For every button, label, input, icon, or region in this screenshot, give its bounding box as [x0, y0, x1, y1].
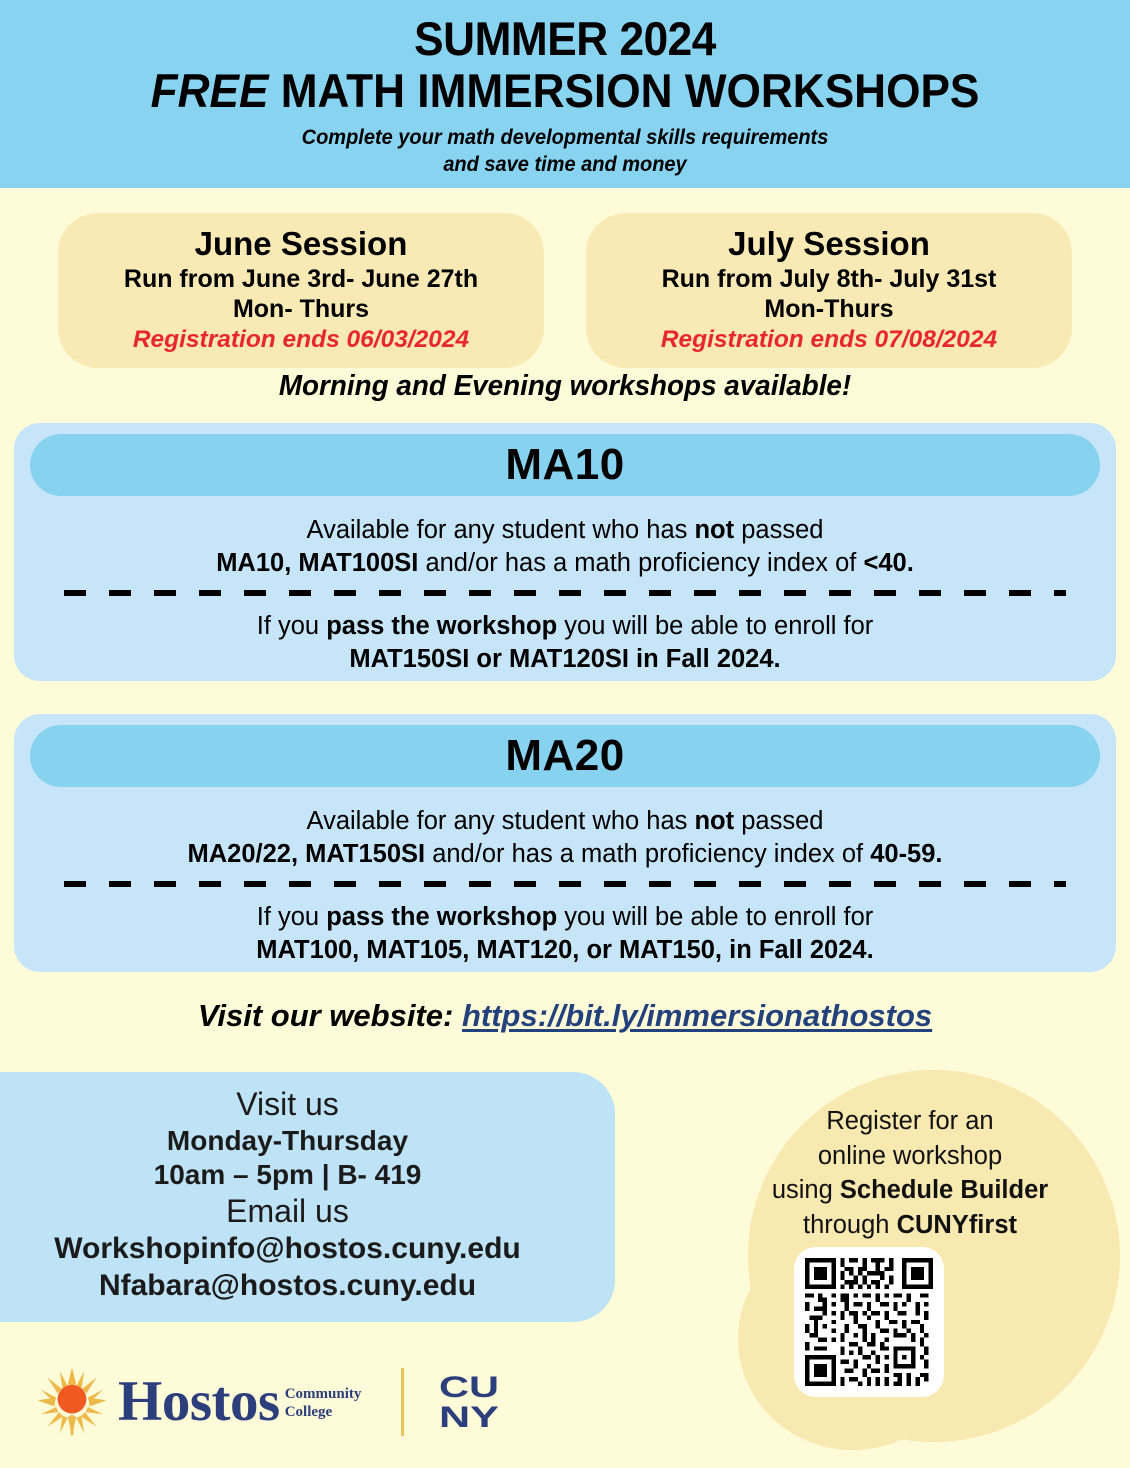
- register-line-4-text: through: [803, 1211, 897, 1239]
- eligibility-text-a: Available for any student who has: [307, 516, 695, 544]
- session-registration-deadline: Registration ends 06/03/2024: [68, 325, 534, 355]
- session-card-july: July Session Run from July 8th- July 31s…: [586, 213, 1072, 368]
- course-body-ma20: Available for any student who has not pa…: [14, 805, 1116, 968]
- outcome-emphasis: pass the workshop: [326, 612, 557, 640]
- outcome-text-a: If you: [257, 612, 326, 640]
- eligibility-line-1: Available for any student who has not pa…: [38, 805, 1092, 838]
- website-link[interactable]: https://bit.ly/immersionathostos: [462, 998, 932, 1033]
- course-header-ma10: MA10: [30, 434, 1100, 496]
- availability-note: Morning and Evening workshops available!: [23, 370, 1108, 403]
- outcome-line-1: If you pass the workshop you will be abl…: [38, 901, 1092, 934]
- website-line: Visit our website: https://bit.ly/immers…: [0, 998, 1130, 1034]
- website-label: Visit our website:: [198, 998, 462, 1033]
- eligibility-courses: MA10, MAT100SI: [216, 549, 418, 577]
- visit-us-box: Visit us Monday-Thursday 10am – 5pm | B-…: [0, 1072, 615, 1322]
- session-title: July Session: [596, 224, 1062, 264]
- eligibility-courses: MA20/22, MAT150SI: [187, 840, 425, 868]
- eligibility-line-2: MA10, MAT100SI and/or has a math profici…: [38, 547, 1092, 580]
- outcome-text-c: you will be able to enroll for: [557, 903, 873, 931]
- dashed-divider: [64, 590, 1066, 596]
- outcome-text-a: If you: [257, 903, 326, 931]
- eligibility-text-c: passed: [734, 807, 823, 835]
- course-header-ma20: MA20: [30, 725, 1100, 787]
- visit-us-heading: Visit us: [0, 1086, 575, 1124]
- eligibility-index-value: 40-59.: [870, 840, 942, 868]
- hostos-name: Hostos: [118, 1375, 280, 1429]
- hostos-subtitle: Community College: [285, 1385, 362, 1423]
- session-days: Mon- Thurs: [68, 294, 534, 324]
- session-days: Mon-Thurs: [596, 294, 1062, 324]
- register-line-3-text: using: [772, 1176, 840, 1204]
- course-code: MA20: [505, 731, 624, 781]
- qr-code-icon: [805, 1258, 933, 1386]
- outcome-line-1: If you pass the workshop you will be abl…: [38, 610, 1092, 643]
- visit-us-days: Monday-Thursday: [0, 1124, 575, 1159]
- footer-logo-row: Hostos Community College CU NY: [36, 1363, 502, 1441]
- email-address-workshopinfo[interactable]: Workshopinfo@hostos.cuny.edu: [0, 1231, 575, 1268]
- eligibility-line-2: MA20/22, MAT150SI and/or has a math prof…: [38, 838, 1092, 871]
- session-title: June Session: [68, 224, 534, 264]
- svg-text:CU: CU: [439, 1371, 499, 1404]
- register-line-1: Register for an: [745, 1104, 1075, 1139]
- eligibility-emphasis: not: [694, 807, 734, 835]
- course-code: MA10: [505, 440, 624, 490]
- outcome-text-c: you will be able to enroll for: [557, 612, 873, 640]
- course-body-ma10: Available for any student who has not pa…: [14, 514, 1116, 677]
- logo-divider: [401, 1368, 404, 1436]
- email-us-heading: Email us: [0, 1193, 575, 1231]
- register-instructions: Register for an online workshop using Sc…: [745, 1104, 1075, 1243]
- outcome-courses: MAT100, MAT105, MAT120, or MAT150, in Fa…: [256, 936, 873, 964]
- outcome-line-2: MAT150SI or MAT120SI in Fall 2024.: [38, 643, 1092, 676]
- cuny-logo-icon: CU NY: [438, 1371, 502, 1433]
- session-card-june: June Session Run from June 3rd- June 27t…: [58, 213, 544, 368]
- svg-text:NY: NY: [439, 1401, 499, 1433]
- qr-code-container[interactable]: [794, 1247, 944, 1397]
- eligibility-index-text: and/or has a math proficiency index of: [425, 840, 870, 868]
- hostos-subtitle-line1: Community: [285, 1385, 362, 1404]
- eligibility-index-value: <40.: [863, 549, 913, 577]
- session-date-range: Run from June 3rd- June 27th: [68, 264, 534, 294]
- eligibility-index-text: and/or has a math proficiency index of: [418, 549, 863, 577]
- register-line-2: online workshop: [745, 1139, 1075, 1174]
- hostos-sun-icon: [36, 1366, 108, 1438]
- cunyfirst-label: CUNYfirst: [897, 1211, 1017, 1239]
- visit-us-hours-room: 10am – 5pm | B- 419: [0, 1158, 575, 1193]
- dashed-divider: [64, 881, 1066, 887]
- schedule-builder-label: Schedule Builder: [840, 1176, 1048, 1204]
- session-registration-deadline: Registration ends 07/08/2024: [596, 325, 1062, 355]
- course-card-ma10: MA10 Available for any student who has n…: [14, 423, 1116, 681]
- hostos-wordmark: Hostos Community College: [118, 1375, 361, 1429]
- outcome-courses: MAT150SI or MAT120SI in Fall 2024.: [349, 645, 780, 673]
- eligibility-text-a: Available for any student who has: [307, 807, 695, 835]
- course-card-ma20: MA20 Available for any student who has n…: [14, 714, 1116, 972]
- email-address-nfabara[interactable]: Nfabara@hostos.cuny.edu: [0, 1268, 575, 1305]
- hostos-subtitle-line2: College: [285, 1403, 362, 1422]
- eligibility-line-1: Available for any student who has not pa…: [38, 514, 1092, 547]
- session-date-range: Run from July 8th- July 31st: [596, 264, 1062, 294]
- register-line-4: through CUNYfirst: [745, 1208, 1075, 1243]
- outcome-emphasis: pass the workshop: [326, 903, 557, 931]
- eligibility-text-c: passed: [734, 516, 823, 544]
- register-line-3: using Schedule Builder: [745, 1173, 1075, 1208]
- session-cards-row: June Session Run from June 3rd- June 27t…: [0, 213, 1130, 368]
- eligibility-emphasis: not: [694, 516, 734, 544]
- outcome-line-2: MAT100, MAT105, MAT120, or MAT150, in Fa…: [38, 934, 1092, 967]
